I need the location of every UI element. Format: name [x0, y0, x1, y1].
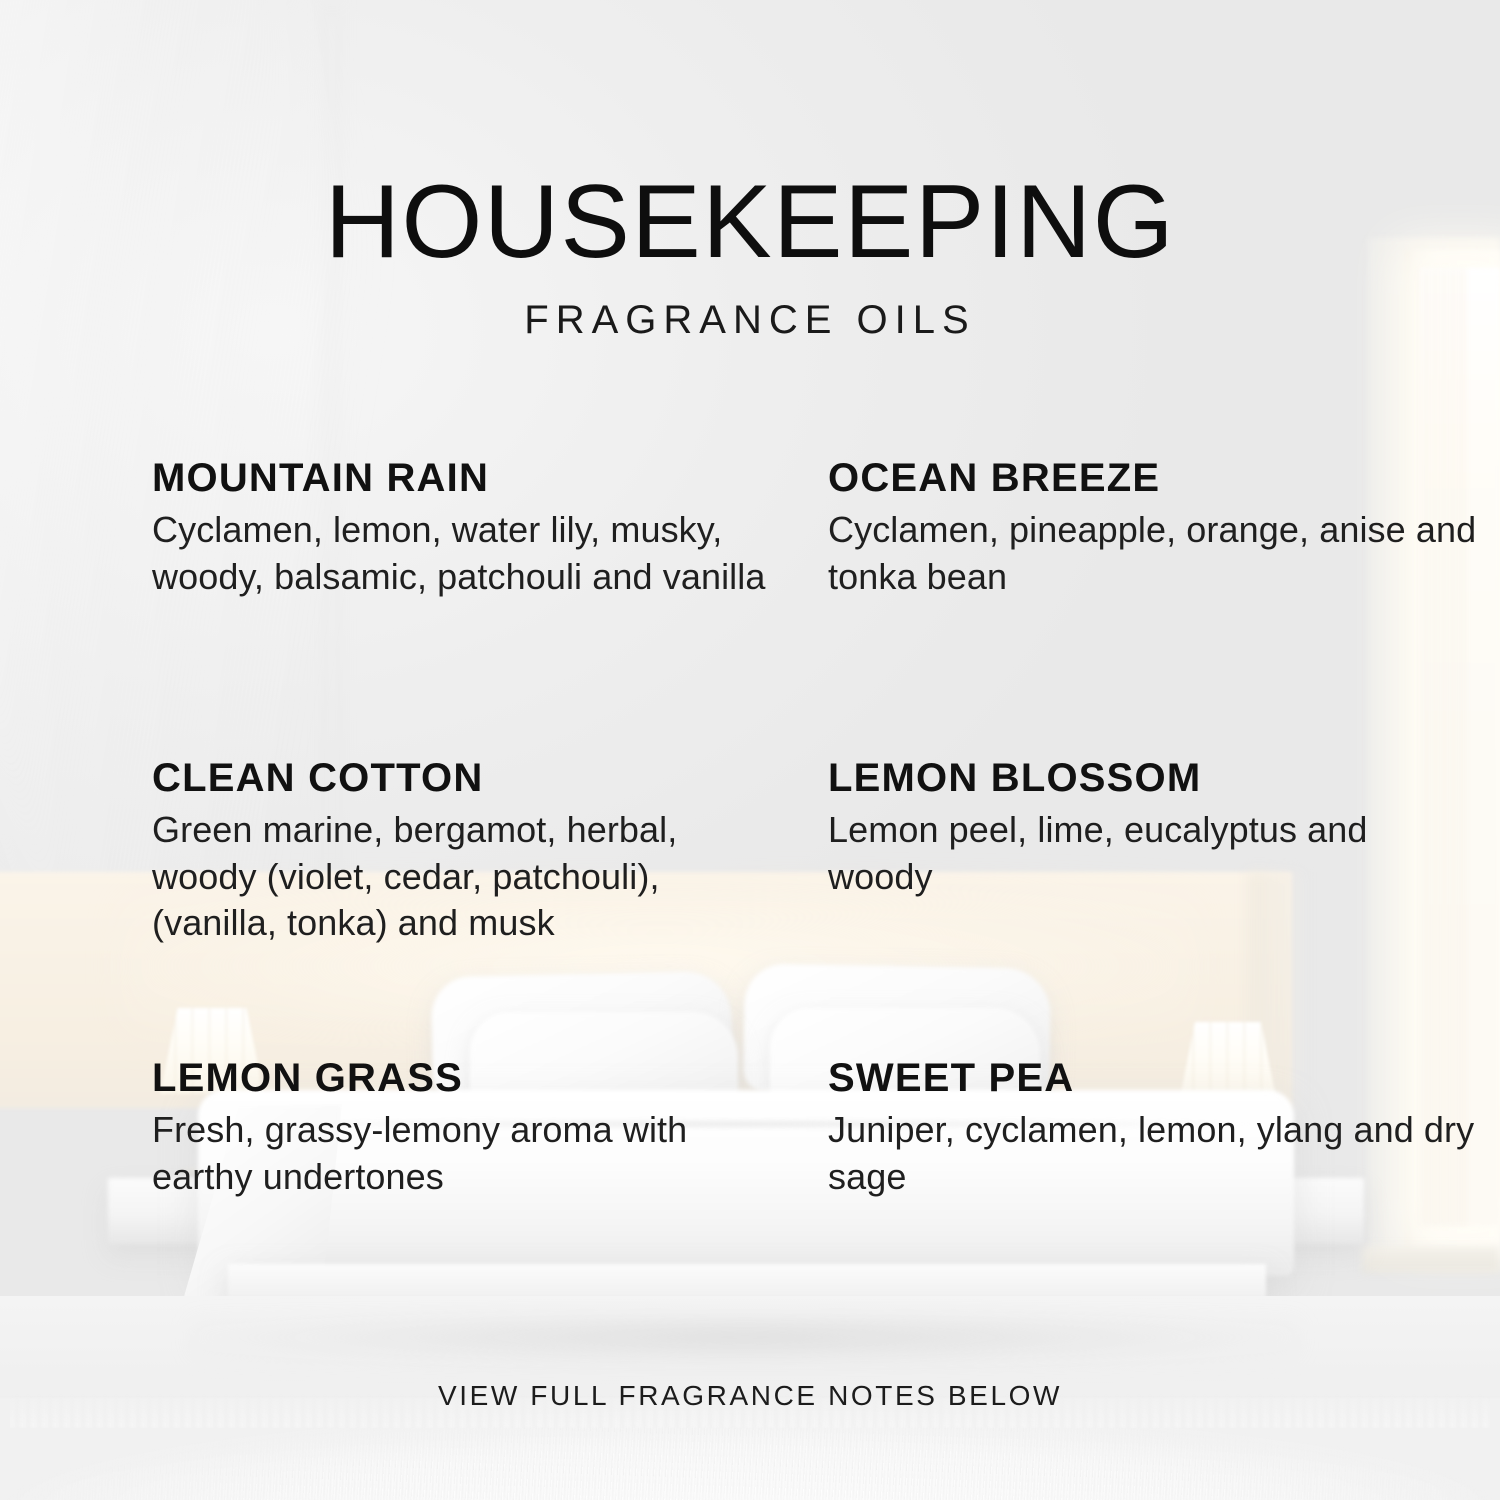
text-overlay: HOUSEKEEPING FRAGRANCE OILS MOUNTAIN RAI… — [0, 0, 1500, 1500]
fragrance-notes: Juniper, cyclamen, lemon, ylang and dry … — [828, 1107, 1482, 1201]
fragrance-name: LEMON GRASS — [152, 1056, 792, 1101]
fragrance-name: SWEET PEA — [828, 1056, 1482, 1101]
fragrance-card-ocean-breeze: OCEAN BREEZE Cyclamen, pineapple, orange… — [828, 456, 1482, 600]
fragrance-notes: Fresh, grassy-lemony aroma with earthy u… — [152, 1107, 792, 1201]
product-graphic: HOUSEKEEPING FRAGRANCE OILS MOUNTAIN RAI… — [0, 0, 1500, 1500]
fragrance-name: LEMON BLOSSOM — [828, 756, 1482, 801]
fragrance-card-mountain-rain: MOUNTAIN RAIN Cyclamen, lemon, water lil… — [152, 456, 792, 600]
fragrance-card-lemon-blossom: LEMON BLOSSOM Lemon peel, lime, eucalypt… — [828, 756, 1482, 900]
fragrance-notes: Lemon peel, lime, eucalyptus and woody — [828, 807, 1482, 901]
page-subtitle: FRAGRANCE OILS — [0, 300, 1500, 340]
fragrance-card-sweet-pea: SWEET PEA Juniper, cyclamen, lemon, ylan… — [828, 1056, 1482, 1200]
page-title: HOUSEKEEPING — [0, 170, 1500, 274]
fragrance-name: OCEAN BREEZE — [828, 456, 1482, 501]
fragrance-notes: Cyclamen, pineapple, orange, anise and t… — [828, 507, 1482, 601]
fragrance-notes: Green marine, bergamot, herbal, woody (v… — [152, 807, 792, 947]
fragrance-card-lemon-grass: LEMON GRASS Fresh, grassy-lemony aroma w… — [152, 1056, 792, 1200]
footer-note: VIEW FULL FRAGRANCE NOTES BELOW — [0, 1382, 1500, 1410]
fragrance-name: CLEAN COTTON — [152, 756, 792, 801]
fragrance-card-clean-cotton: CLEAN COTTON Green marine, bergamot, her… — [152, 756, 792, 947]
fragrance-notes: Cyclamen, lemon, water lily, musky, wood… — [152, 507, 792, 601]
fragrance-name: MOUNTAIN RAIN — [152, 456, 792, 501]
